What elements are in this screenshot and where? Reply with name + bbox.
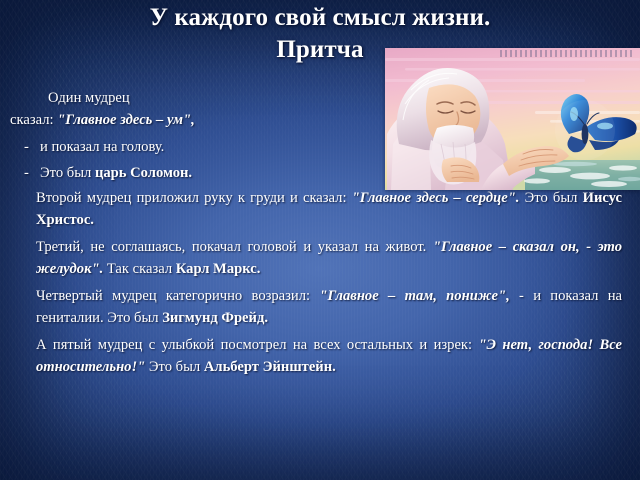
marx-name: Карл Маркс. <box>176 261 261 277</box>
paragraph-five: А пятый мудрец с улыбкой посмотрел на вс… <box>10 335 622 378</box>
presentation-slide: У каждого свой смысл жизни. Притча <box>0 0 640 480</box>
dash-bullet-icon: - <box>24 163 40 185</box>
paragraph-five-text-a: А пятый мудрец с улыбкой посмотрел на вс… <box>36 337 472 353</box>
quote-mind: "Главное здесь – ум", <box>57 112 195 128</box>
sage-with-butterfly-illustration <box>385 48 640 190</box>
paragraph-one-lead: Один мудрец <box>10 90 130 106</box>
paragraph-two-text-a: Второй мудрец приложил руку к груди и ск… <box>36 190 347 206</box>
paragraph-three-text-a: Третий, не соглашаясь, покачал головой и… <box>36 239 426 255</box>
slide-title-line-1: У каждого свой смысл жизни. <box>26 2 614 33</box>
slide-title: У каждого свой смысл жизни. Притча <box>26 2 614 65</box>
freud-name: Зигмунд Фрейд. <box>162 310 268 326</box>
illustration-svg <box>385 48 640 190</box>
slide-title-line-2: Притча <box>26 34 614 65</box>
solomon-name: царь Соломон. <box>95 165 192 181</box>
paragraph-three: Третий, не соглашаясь, покачал головой и… <box>10 237 622 280</box>
bullet-item-solomon: - Это был царь Соломон. <box>10 163 390 185</box>
paragraph-one: Один мудрец сказал: "Главное здесь – ум"… <box>10 88 376 131</box>
quote-lower: "Главное – там, пониже", <box>319 288 509 304</box>
bullet-item-head: - и показал на голову. <box>10 137 390 159</box>
paragraph-two: Второй мудрец приложил руку к груди и ск… <box>10 188 622 231</box>
quote-heart: "Главное здесь – сердце". <box>352 190 520 206</box>
bullet-item-solomon-text: Это был царь Соломон. <box>40 163 390 185</box>
paragraph-two-text-b: Это был <box>519 190 582 206</box>
paragraph-three-text-b: Так сказал <box>103 261 176 277</box>
paragraph-five-text-b: Это был <box>145 359 204 375</box>
solomon-prefix: Это был <box>40 165 95 181</box>
dash-bullet-icon: - <box>24 137 40 159</box>
paragraph-one-said: сказал: <box>10 112 54 128</box>
paragraph-four: Четвертый мудрец категорично возразил: "… <box>10 286 622 329</box>
einstein-name: Альберт Эйнштейн. <box>204 359 336 375</box>
bullet-item-head-text: и показал на голову. <box>40 137 390 159</box>
paragraph-four-text-a: Четвертый мудрец категорично возразил: <box>36 288 310 304</box>
